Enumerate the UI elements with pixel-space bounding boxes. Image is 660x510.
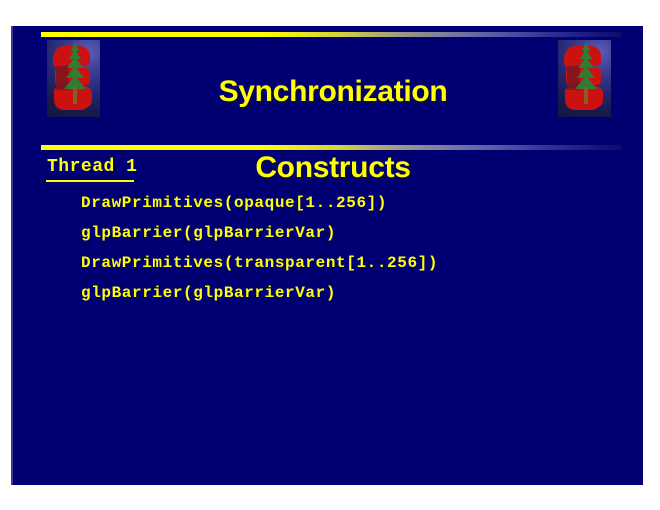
title-bottom-rule bbox=[41, 145, 621, 150]
code-line: DrawPrimitives(transparent[1..256]) bbox=[81, 248, 621, 278]
thread-heading: Thread 1 bbox=[47, 156, 137, 178]
stanford-logo-right bbox=[558, 40, 611, 117]
title-band: Synchronization Constructs bbox=[13, 26, 643, 152]
stanford-logo-left bbox=[47, 40, 100, 117]
code-line: glpBarrier(glpBarrierVar) bbox=[81, 278, 621, 308]
code-line: DrawPrimitives(opaque[1..256]) bbox=[81, 188, 621, 218]
thread-heading-underline bbox=[46, 180, 134, 182]
redwood-tree-icon bbox=[64, 42, 86, 104]
tree-trunk bbox=[584, 87, 588, 104]
tree-trunk bbox=[73, 87, 77, 104]
code-line: glpBarrier(glpBarrierVar) bbox=[81, 218, 621, 248]
presentation-slide: Synchronization Constructs bbox=[11, 26, 643, 485]
slide-title-line-1: Synchronization bbox=[133, 73, 533, 111]
code-block: DrawPrimitives(opaque[1..256]) glpBarrie… bbox=[81, 188, 621, 308]
redwood-tree-icon bbox=[575, 42, 597, 104]
slide-canvas: Synchronization Constructs bbox=[0, 0, 660, 510]
slide-body: Thread 1 DrawPrimitives(opaque[1..256]) … bbox=[13, 152, 643, 485]
